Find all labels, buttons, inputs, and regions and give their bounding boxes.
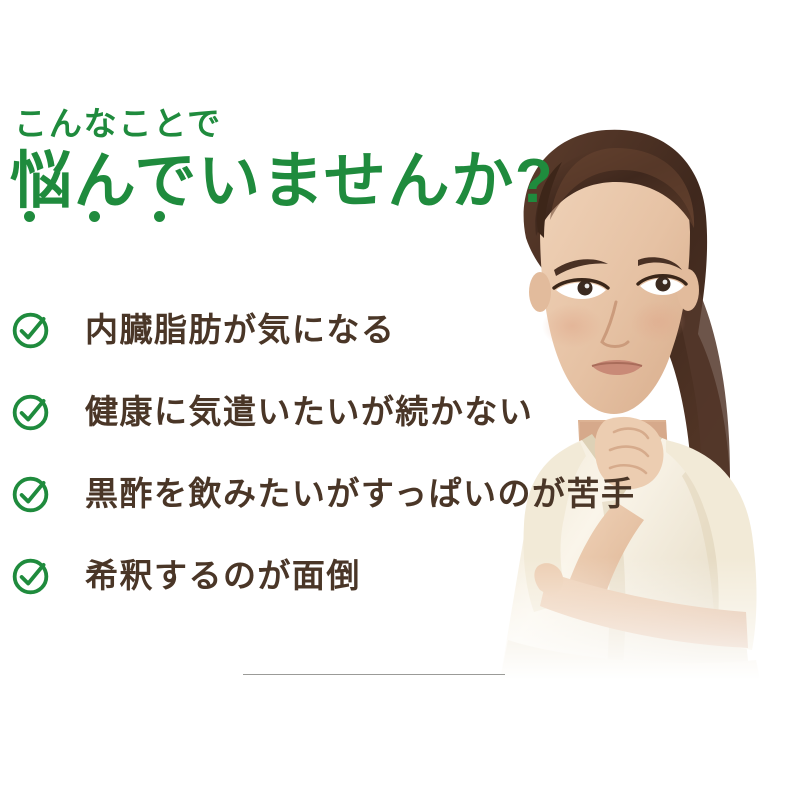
list-item: 希釈するのが面倒: [0, 535, 800, 617]
divider: [243, 674, 505, 675]
list-item: 内臓脂肪が気になる: [0, 289, 800, 371]
list-item: 健康に気遣いたいが続かない: [0, 371, 800, 453]
headline-kicker: こんなことで: [14, 106, 560, 143]
list-item-label: 希釈するのが面倒: [85, 558, 361, 594]
page-title: 悩んでいませんか?: [10, 149, 560, 216]
check-circle-icon: [10, 310, 51, 351]
list-item-label: 健康に気遣いたいが続かない: [85, 394, 533, 430]
list-item-label: 内臓脂肪が気になる: [85, 312, 395, 348]
list-item: 黒酢を飲みたいがすっぱいのが苦手: [0, 453, 800, 535]
check-circle-icon: [10, 392, 51, 433]
headline-main-text: 悩んでいませんか?: [10, 147, 555, 216]
check-circle-icon: [10, 556, 51, 597]
check-circle-icon: [10, 474, 51, 515]
list-item-label: 黒酢を飲みたいがすっぱいのが苦手: [85, 476, 635, 512]
pain-point-checklist: 内臓脂肪が気になる 健康に気遣いたいが続かない 黒酢を飲みたいがすっぱいのが苦手: [0, 289, 800, 617]
promo-banner: こんなことで 悩んでいませんか? 内臓脂肪が気になる: [0, 0, 800, 800]
headline-block: こんなことで 悩んでいませんか?: [0, 106, 560, 216]
